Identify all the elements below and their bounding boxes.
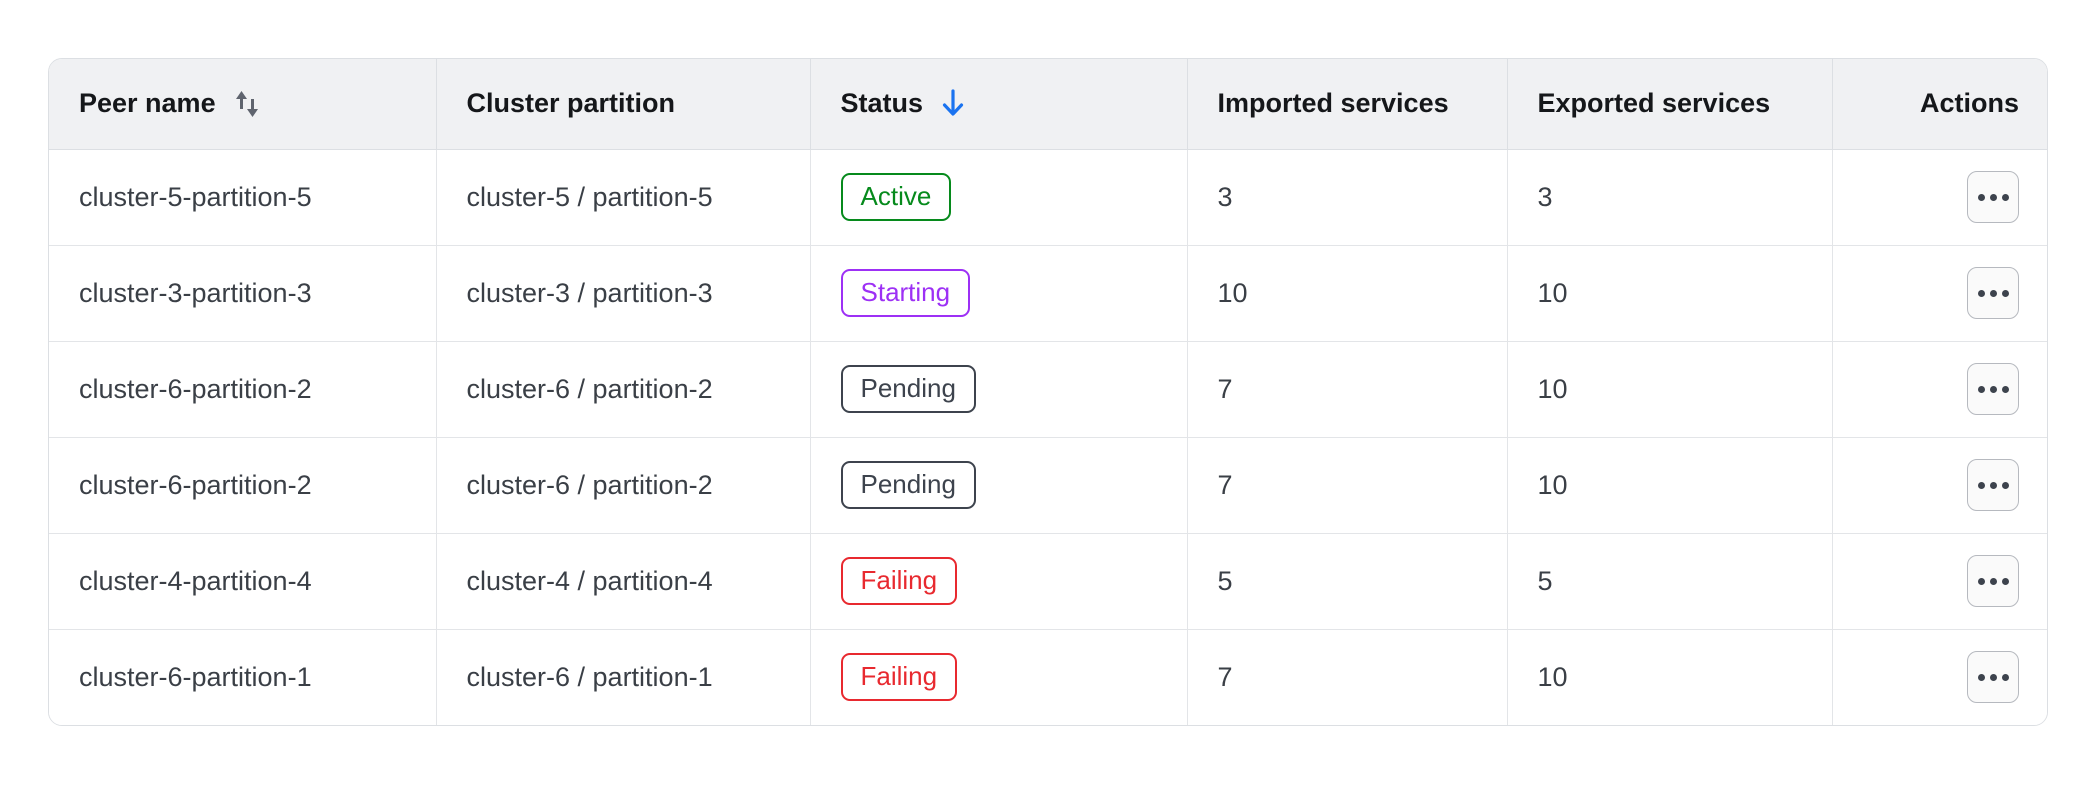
cell-exported-services: 3 (1507, 149, 1832, 245)
cell-imported-services: 7 (1187, 341, 1507, 437)
cell-cluster-partition: cluster-4 / partition-4 (436, 533, 810, 629)
table-row: cluster-5-partition-5 cluster-5 / partit… (49, 149, 2048, 245)
cell-actions (1832, 533, 2048, 629)
arrow-down-icon[interactable] (939, 88, 967, 120)
cell-cluster-partition: cluster-6 / partition-2 (436, 341, 810, 437)
column-header-label: Cluster partition (467, 88, 676, 119)
cell-status: Failing (810, 629, 1187, 725)
cell-cluster-partition: cluster-5 / partition-5 (436, 149, 810, 245)
table-row: cluster-6-partition-1 cluster-6 / partit… (49, 629, 2048, 725)
table-body: cluster-5-partition-5 cluster-5 / partit… (49, 149, 2048, 725)
cell-exported-services: 10 (1507, 341, 1832, 437)
status-badge: Failing (841, 653, 958, 701)
table-header: Peer name (49, 59, 2048, 149)
column-header-label: Actions (1920, 88, 2019, 119)
cell-cluster-partition: cluster-3 / partition-3 (436, 245, 810, 341)
row-actions-button[interactable] (1967, 555, 2019, 607)
cell-peer-name: cluster-3-partition-3 (49, 245, 436, 341)
cell-imported-services: 3 (1187, 149, 1507, 245)
status-badge: Failing (841, 557, 958, 605)
cell-status: Pending (810, 341, 1187, 437)
cell-cluster-partition: cluster-6 / partition-1 (436, 629, 810, 725)
cell-status: Failing (810, 533, 1187, 629)
cell-peer-name: cluster-4-partition-4 (49, 533, 436, 629)
table-row: cluster-4-partition-4 cluster-4 / partit… (49, 533, 2048, 629)
cell-status: Starting (810, 245, 1187, 341)
row-actions-button[interactable] (1967, 651, 2019, 703)
cell-exported-services: 10 (1507, 437, 1832, 533)
ellipsis-icon (1978, 194, 2009, 201)
peers-table-page: Peer name (0, 0, 2096, 808)
cell-actions (1832, 245, 2048, 341)
column-header-status[interactable]: Status (810, 59, 1187, 149)
status-badge: Pending (841, 461, 976, 509)
cell-peer-name: cluster-5-partition-5 (49, 149, 436, 245)
cell-imported-services: 10 (1187, 245, 1507, 341)
ellipsis-icon (1978, 386, 2009, 393)
cell-status: Pending (810, 437, 1187, 533)
row-actions-button[interactable] (1967, 171, 2019, 223)
ellipsis-icon (1978, 578, 2009, 585)
cell-exported-services: 10 (1507, 629, 1832, 725)
status-badge: Starting (841, 269, 971, 317)
cell-peer-name: cluster-6-partition-1 (49, 629, 436, 725)
row-actions-button[interactable] (1967, 459, 2019, 511)
status-badge: Pending (841, 365, 976, 413)
table-row: cluster-6-partition-2 cluster-6 / partit… (49, 341, 2048, 437)
sort-both-icon[interactable] (232, 87, 262, 121)
cell-imported-services: 5 (1187, 533, 1507, 629)
cell-actions (1832, 149, 2048, 245)
cell-actions (1832, 341, 2048, 437)
ellipsis-icon (1978, 290, 2009, 297)
column-header-label: Status (841, 88, 924, 119)
table-header-row: Peer name (49, 59, 2048, 149)
cell-actions (1832, 437, 2048, 533)
cell-exported-services: 10 (1507, 245, 1832, 341)
column-header-cluster-partition[interactable]: Cluster partition (436, 59, 810, 149)
column-header-peer-name[interactable]: Peer name (49, 59, 436, 149)
row-actions-button[interactable] (1967, 363, 2019, 415)
status-badge: Active (841, 173, 952, 221)
table-row: cluster-6-partition-2 cluster-6 / partit… (49, 437, 2048, 533)
table-row: cluster-3-partition-3 cluster-3 / partit… (49, 245, 2048, 341)
column-header-label: Imported services (1218, 88, 1449, 119)
column-header-actions: Actions (1832, 59, 2048, 149)
cell-imported-services: 7 (1187, 629, 1507, 725)
peers-table: Peer name (49, 59, 2048, 725)
ellipsis-icon (1978, 482, 2009, 489)
cell-peer-name: cluster-6-partition-2 (49, 437, 436, 533)
row-actions-button[interactable] (1967, 267, 2019, 319)
column-header-exported-services[interactable]: Exported services (1507, 59, 1832, 149)
peers-table-card: Peer name (48, 58, 2048, 726)
ellipsis-icon (1978, 674, 2009, 681)
column-header-label: Peer name (79, 88, 216, 119)
cell-imported-services: 7 (1187, 437, 1507, 533)
cell-actions (1832, 629, 2048, 725)
cell-cluster-partition: cluster-6 / partition-2 (436, 437, 810, 533)
column-header-imported-services[interactable]: Imported services (1187, 59, 1507, 149)
column-header-label: Exported services (1538, 88, 1771, 119)
cell-exported-services: 5 (1507, 533, 1832, 629)
cell-peer-name: cluster-6-partition-2 (49, 341, 436, 437)
cell-status: Active (810, 149, 1187, 245)
